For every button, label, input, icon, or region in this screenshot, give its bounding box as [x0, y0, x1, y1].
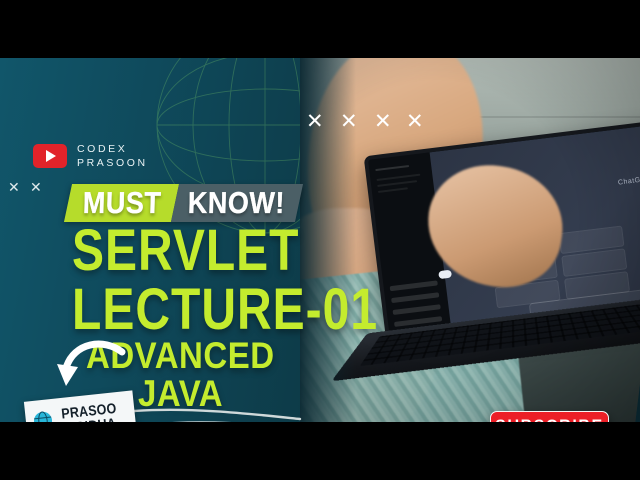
- youtube-play-icon: [33, 144, 67, 168]
- channel-header: CODEX PRASOON: [33, 142, 148, 170]
- banner-left: MUST: [64, 184, 179, 222]
- page-title: SERVLET LECTURE-01: [72, 226, 378, 327]
- title-line2: LECTURE-01: [72, 285, 378, 335]
- x-mark-icon: ✕: [8, 180, 20, 194]
- subscribe-button[interactable]: SUBSCRIBE: [490, 411, 609, 422]
- thumbnail-frame: ChatGPT: [0, 0, 640, 480]
- subscribe-label: SUBSCRIBE: [495, 417, 604, 422]
- banner-right-label: KNOW!: [187, 186, 285, 221]
- x-mark-icon: ✕: [406, 111, 424, 132]
- thumbnail-stage: ChatGPT: [0, 58, 640, 422]
- double-swoosh-underline: [132, 406, 302, 422]
- banner-left-label: MUST: [83, 186, 162, 221]
- channel-name-line1: CODEX: [77, 142, 148, 156]
- x-mark-icon: ✕: [340, 111, 358, 132]
- x-mark-icon: ✕: [306, 111, 324, 132]
- channel-name: CODEX PRASOON: [77, 142, 148, 170]
- x-mark-icon: ✕: [374, 111, 392, 132]
- globe-bulb-icon: [30, 409, 59, 422]
- banner-right: KNOW!: [170, 184, 303, 222]
- author-badge-name: PRASOO N BIDUA: [61, 401, 119, 422]
- must-know-banner: MUST KNOW!: [64, 184, 304, 222]
- x-mark-icon: ✕: [30, 180, 42, 194]
- channel-name-line2: PRASOON: [77, 156, 148, 170]
- curved-arrow-down-left-icon: [52, 340, 128, 396]
- title-line1: SERVLET: [72, 226, 378, 276]
